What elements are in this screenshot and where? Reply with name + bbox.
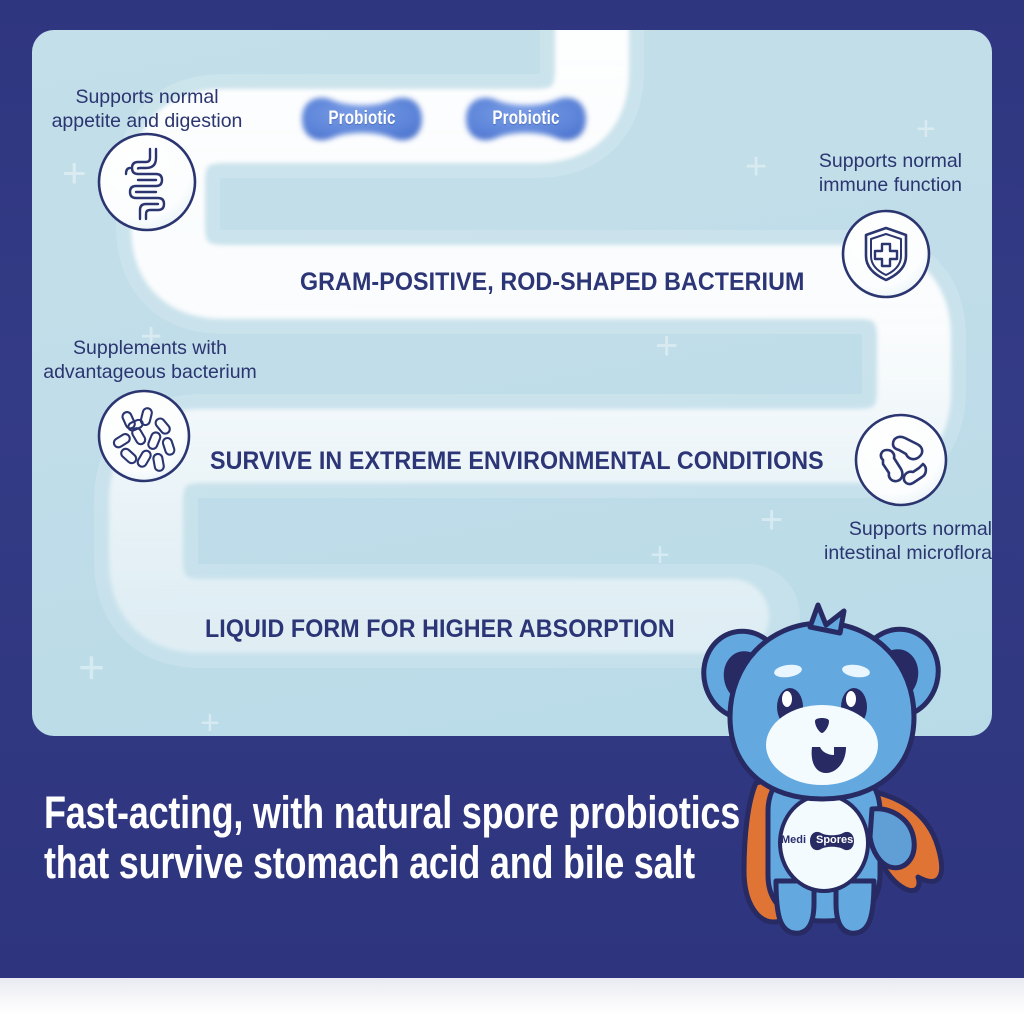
medispores-bear-mascot bbox=[660, 585, 980, 955]
banner-line-2: that survive stomach acid and bile salt bbox=[44, 838, 588, 888]
intestine-icon bbox=[96, 131, 198, 233]
headline-liquid-form: LIQUID FORM FOR HIGHER ABSORPTION bbox=[205, 615, 675, 644]
label-appetite-digestion: Supports normal appetite and digestion bbox=[32, 86, 262, 134]
badge-text-medi: Medi bbox=[781, 834, 806, 846]
probiotic-pill-2[interactable]: Probiotic bbox=[452, 92, 600, 146]
label-line-2: immune function bbox=[762, 174, 962, 198]
pill-label: Probiotic bbox=[467, 92, 585, 146]
label-line-1: Supports normal bbox=[760, 518, 992, 542]
banner-line-1: Fast-acting, with natural spore probioti… bbox=[44, 788, 588, 838]
bottom-strip bbox=[0, 978, 1024, 1016]
label-intestinal-microflora: Supports normal intestinal microflora bbox=[760, 518, 992, 566]
shield-cross-icon bbox=[840, 208, 932, 300]
label-line-2: appetite and digestion bbox=[32, 110, 262, 134]
bacteria-trio-icon bbox=[853, 412, 949, 508]
label-immune-function: Supports normal immune function bbox=[762, 150, 962, 198]
headline-survive-extreme: SURVIVE IN EXTREME ENVIRONMENTAL CONDITI… bbox=[210, 447, 824, 476]
banner-text: Fast-acting, with natural spore probioti… bbox=[44, 788, 724, 889]
label-line-1: Supports normal bbox=[32, 86, 262, 110]
label-advantageous-bacterium: Supplements with advantageous bacterium bbox=[20, 337, 280, 385]
label-line-1: Supports normal bbox=[762, 150, 962, 174]
label-line-1: Supplements with bbox=[20, 337, 280, 361]
pill-label: Probiotic bbox=[303, 92, 421, 146]
badge-text-spores: Spores bbox=[816, 834, 853, 846]
bacteria-cluster-icon bbox=[96, 388, 192, 484]
infographic-root: + + + + + + + + + Probiotic bbox=[0, 0, 1024, 1016]
probiotic-pill-1[interactable]: Probiotic bbox=[288, 92, 436, 146]
headline-gram-positive: GRAM-POSITIVE, ROD-SHAPED BACTERIUM bbox=[300, 268, 804, 297]
label-line-2: intestinal microflora bbox=[760, 542, 992, 566]
label-line-2: advantageous bacterium bbox=[20, 361, 280, 385]
